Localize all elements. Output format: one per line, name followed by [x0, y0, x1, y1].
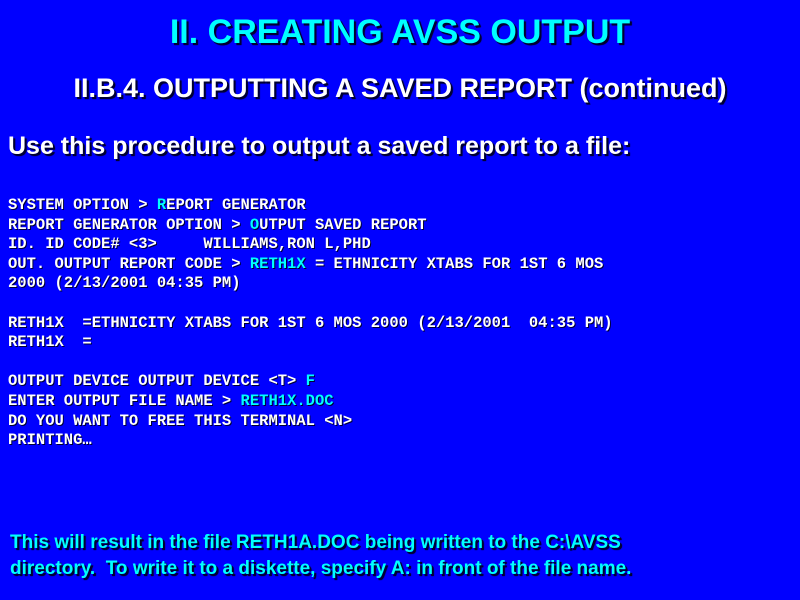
slide-canvas: II. CREATING AVSS OUTPUT II.B.4. OUTPUTT… — [0, 0, 800, 600]
transcript-text: ID. ID CODE# <3> WILLIAMS,RON L,PHD — [8, 235, 371, 253]
page-title: II. CREATING AVSS OUTPUT — [0, 12, 800, 52]
line-timestamp: 2000 (2/13/2001 04:35 PM) — [8, 274, 798, 294]
transcript-text: UTPUT SAVED REPORT — [259, 216, 426, 234]
transcript-text: 2000 (2/13/2001 04:35 PM) — [8, 274, 241, 292]
line-blank-1 — [8, 294, 798, 314]
line-out-output-report-code: OUT. OUTPUT REPORT CODE > RETH1X = ETHNI… — [8, 255, 798, 275]
transcript-highlight: RETH1X — [250, 255, 306, 273]
line-id-code: ID. ID CODE# <3> WILLIAMS,RON L,PHD — [8, 235, 798, 255]
transcript-text: REPORT GENERATOR OPTION > — [8, 216, 250, 234]
transcript-text: PRINTING… — [8, 431, 92, 449]
page-subtitle: II.B.4. OUTPUTTING A SAVED REPORT (conti… — [0, 72, 800, 104]
transcript-text: OUT. OUTPUT REPORT CODE > — [8, 255, 250, 273]
line-output-device: OUTPUT DEVICE OUTPUT DEVICE <T> F — [8, 372, 798, 392]
transcript-text: RETH1X =ETHNICITY XTABS FOR 1ST 6 MOS 20… — [8, 314, 613, 332]
line-report-generator-option: REPORT GENERATOR OPTION > OUTPUT SAVED R… — [8, 216, 798, 236]
transcript-text: SYSTEM OPTION > — [8, 196, 157, 214]
transcript-highlight: RETH1X.DOC — [241, 392, 334, 410]
transcript-highlight: F — [306, 372, 315, 390]
line-reth1x-definition: RETH1X =ETHNICITY XTABS FOR 1ST 6 MOS 20… — [8, 314, 798, 334]
transcript-text: ENTER OUTPUT FILE NAME > — [8, 392, 241, 410]
lead-in-text: Use this procedure to output a saved rep… — [8, 131, 798, 161]
terminal-transcript: SYSTEM OPTION > REPORT GENERATORREPORT G… — [8, 196, 798, 451]
line-blank-2 — [8, 353, 798, 373]
transcript-highlight: O — [250, 216, 259, 234]
footer-note: This will result in the file RETH1A.DOC … — [10, 530, 790, 582]
transcript-text: EPORT GENERATOR — [166, 196, 306, 214]
line-free-terminal: DO YOU WANT TO FREE THIS TERMINAL <N> — [8, 412, 798, 432]
transcript-text: DO YOU WANT TO FREE THIS TERMINAL <N> — [8, 412, 352, 430]
footer-line-1: This will result in the file RETH1A.DOC … — [10, 530, 790, 556]
line-enter-output-file-name: ENTER OUTPUT FILE NAME > RETH1X.DOC — [8, 392, 798, 412]
transcript-text: = ETHNICITY XTABS FOR 1ST 6 MOS — [306, 255, 604, 273]
transcript-text: OUTPUT DEVICE OUTPUT DEVICE <T> — [8, 372, 306, 390]
transcript-highlight: R — [157, 196, 166, 214]
footer-line-2: directory. To write it to a diskette, sp… — [10, 556, 790, 582]
line-reth1x-equals: RETH1X = — [8, 333, 798, 353]
line-printing: PRINTING… — [8, 431, 798, 451]
line-system-option: SYSTEM OPTION > REPORT GENERATOR — [8, 196, 798, 216]
transcript-text: RETH1X = — [8, 333, 92, 351]
